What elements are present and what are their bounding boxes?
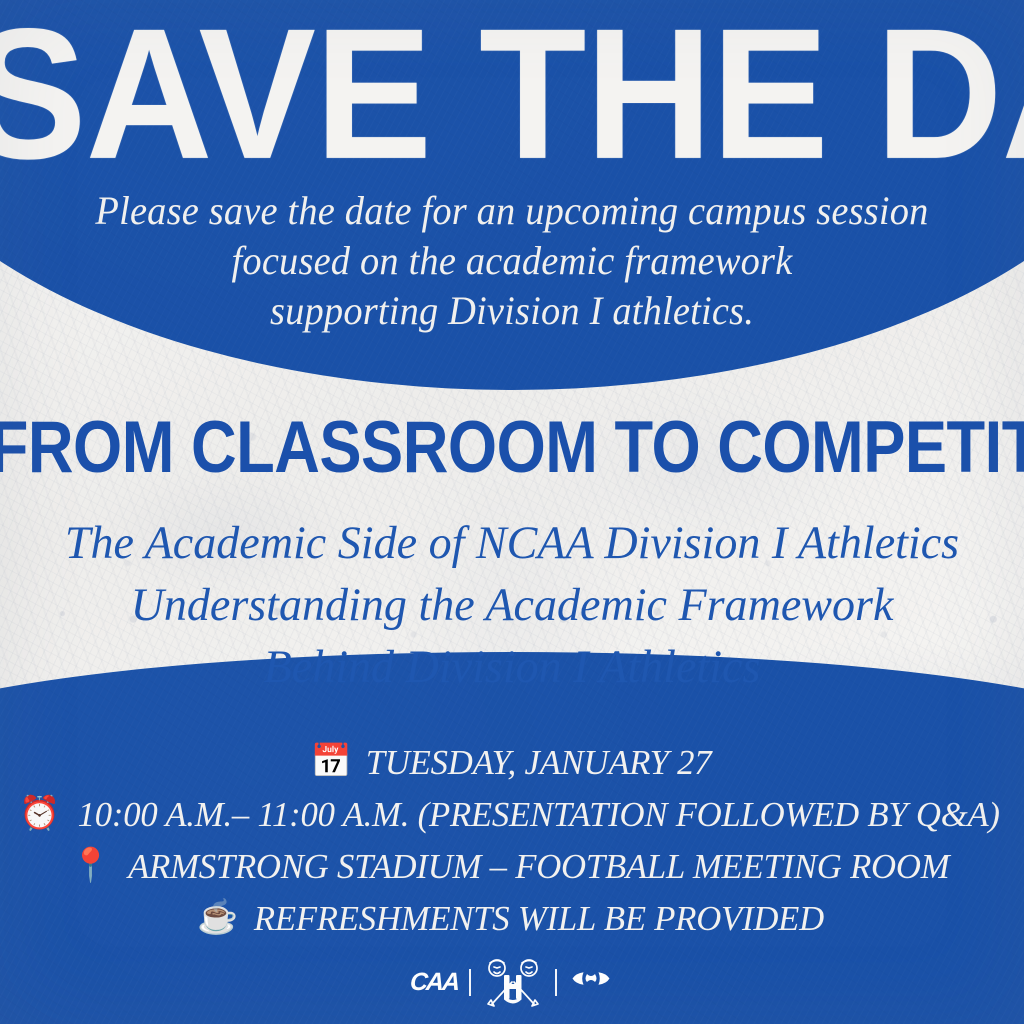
hero-paragraph-line-1: Please save the date for an upcoming cam…	[20, 186, 1003, 236]
hero-paragraph: Please save the date for an upcoming cam…	[20, 186, 1003, 336]
main-headline: FROM CLASSROOM TO COMPETITION:	[0, 412, 1024, 485]
event-details-list: 📅 TUESDAY, JANUARY 27 ⏰ 10:00 A.M.– 11:0…	[0, 736, 1024, 944]
detail-date-text: TUESDAY, JANUARY 27	[366, 745, 712, 780]
hero-paragraph-line-3: supporting Division I athletics.	[20, 286, 1003, 336]
save-the-date-flyer: SAVE THE DATE! Please save the date for …	[0, 0, 1024, 1024]
alarm-clock-icon: ⏰	[19, 798, 60, 831]
detail-row-refreshments: ☕ REFRESHMENTS WILL BE PROVIDED	[0, 892, 1024, 944]
hampton-university-pirate-logo	[482, 956, 544, 1008]
footer-logo-lockup: CAA	[0, 954, 1024, 1010]
logo-divider-left	[469, 969, 471, 996]
detail-row-time: ⏰ 10:00 A.M.– 11:00 A.M. (PRESENTATION F…	[0, 788, 1024, 840]
subtitle-line-3: Behind Division I Athletics	[10, 636, 1014, 698]
hot-beverage-icon: ☕	[197, 902, 238, 935]
round-pushpin-icon: 📍	[70, 850, 111, 883]
detail-refreshments-text: REFRESHMENTS WILL BE PROVIDED	[254, 901, 824, 936]
logo-divider-right	[555, 969, 557, 996]
detail-row-date: 📅 TUESDAY, JANUARY 27	[0, 736, 1024, 788]
hero-title: SAVE THE DATE!	[0, 10, 1024, 181]
subtitle-line-1: The Academic Side of NCAA Division I Ath…	[10, 512, 1014, 574]
detail-time-text: 10:00 A.M.– 11:00 A.M. (PRESENTATION FOL…	[78, 797, 1000, 832]
subtitle-line-2: Understanding the Academic Framework	[10, 574, 1014, 636]
hero-paragraph-line-2: focused on the academic framework	[20, 236, 1003, 286]
caa-logo: CAA	[409, 970, 459, 995]
subtitle-stack: The Academic Side of NCAA Division I Ath…	[10, 512, 1014, 698]
calendar-icon: 📅	[310, 746, 351, 779]
detail-location-text: ARMSTRONG STADIUM – FOOTBALL MEETING ROO…	[128, 849, 949, 884]
content-layer: SAVE THE DATE! Please save the date for …	[0, 0, 1024, 1024]
under-armour-logo	[568, 968, 614, 996]
detail-row-location: 📍 ARMSTRONG STADIUM – FOOTBALL MEETING R…	[0, 840, 1024, 892]
